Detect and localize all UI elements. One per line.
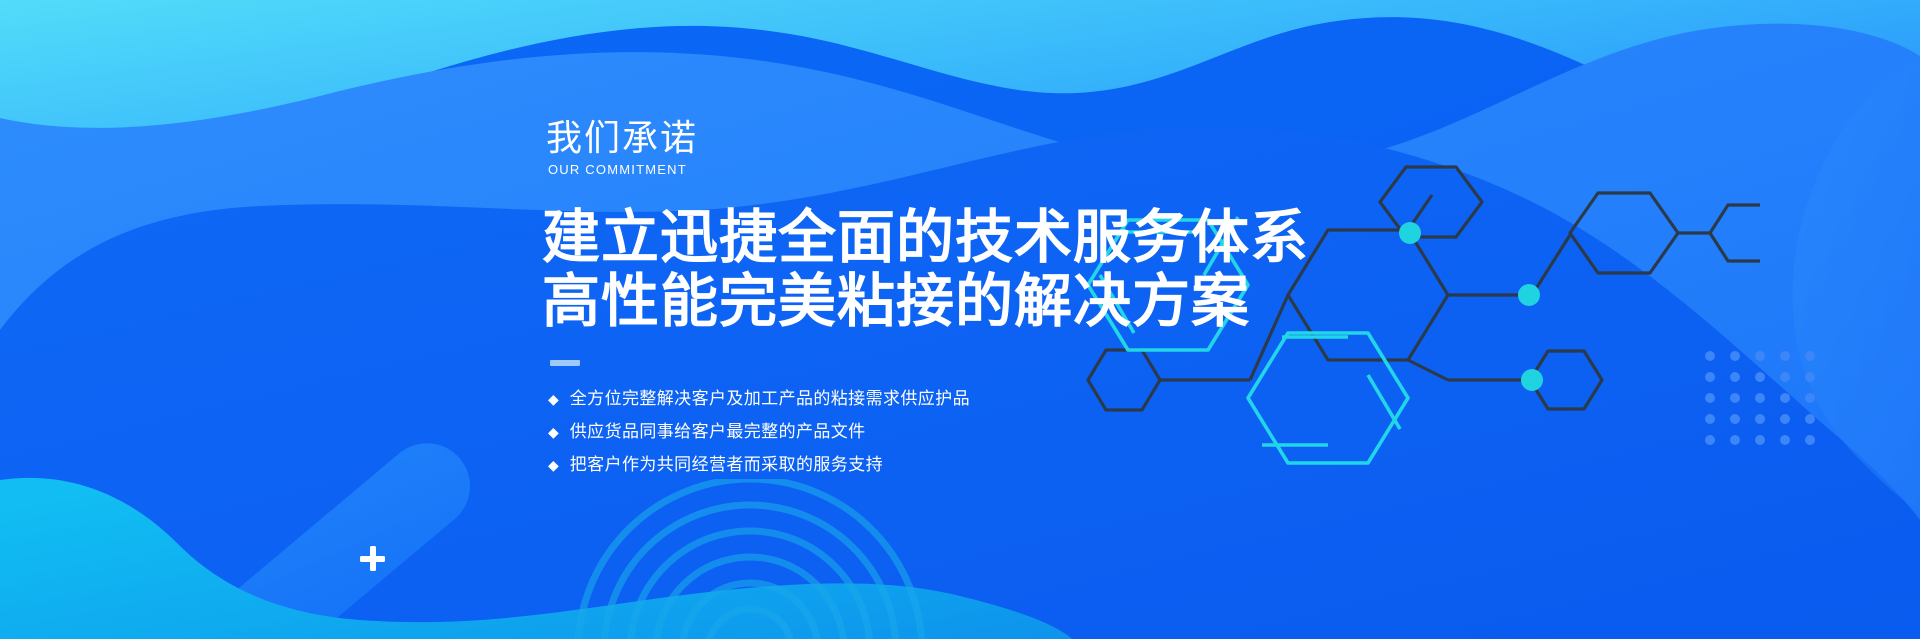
promo-banner: 我们承诺 OUR COMMITMENT 建立迅捷全面的技术服务体系 高性能完美粘… bbox=[0, 0, 1920, 639]
concentric-rings bbox=[520, 479, 980, 639]
list-item-label: 把客户作为共同经营者而采取的服务支持 bbox=[570, 454, 883, 476]
eyebrow-title-en: OUR COMMITMENT bbox=[548, 162, 1346, 178]
diamond-icon: ◆ bbox=[548, 422, 559, 442]
diamond-icon: ◆ bbox=[548, 455, 559, 475]
diamond-icon: ◆ bbox=[548, 389, 559, 409]
dot-grid-pattern bbox=[1702, 348, 1822, 448]
divider-rule bbox=[550, 360, 580, 366]
eyebrow-title-cn: 我们承诺 bbox=[546, 118, 1346, 158]
plus-icon bbox=[360, 546, 385, 571]
list-item-label: 全方位完整解决客户及加工产品的粘接需求供应护品 bbox=[570, 388, 970, 410]
commitment-list: ◆ 全方位完整解决客户及加工产品的粘接需求供应护品 ◆ 供应货品同事给客户最完整… bbox=[548, 388, 1346, 476]
list-item: ◆ 把客户作为共同经营者而采取的服务支持 bbox=[548, 454, 1346, 476]
headline-line-2: 高性能完美粘接的解决方案 bbox=[542, 270, 1346, 334]
banner-content: 我们承诺 OUR COMMITMENT 建立迅捷全面的技术服务体系 高性能完美粘… bbox=[546, 118, 1346, 487]
list-item: ◆ 全方位完整解决客户及加工产品的粘接需求供应护品 bbox=[548, 388, 1346, 410]
headline-line-1: 建立迅捷全面的技术服务体系 bbox=[542, 206, 1346, 270]
page-title: 建立迅捷全面的技术服务体系 高性能完美粘接的解决方案 bbox=[542, 206, 1346, 334]
list-item-label: 供应货品同事给客户最完整的产品文件 bbox=[570, 421, 866, 443]
dot-grid-dots bbox=[1705, 351, 1822, 445]
list-item: ◆ 供应货品同事给客户最完整的产品文件 bbox=[548, 421, 1346, 443]
